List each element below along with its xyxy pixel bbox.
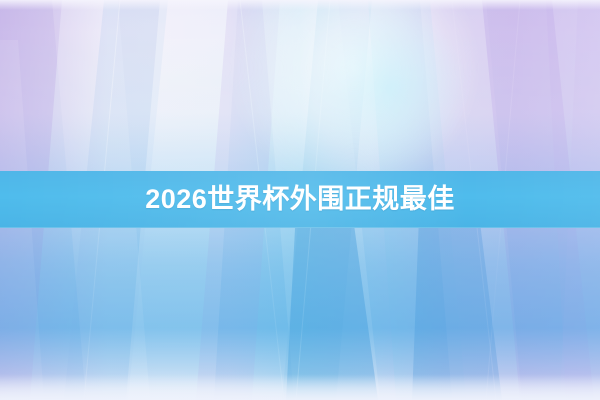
banner-title: 2026世界杯外围正规最佳	[145, 186, 455, 213]
background-cyan-glow	[312, 8, 468, 168]
banner-image: 2026世界杯外围正规最佳	[0, 0, 600, 400]
title-band: 2026世界杯外围正规最佳	[0, 171, 600, 228]
